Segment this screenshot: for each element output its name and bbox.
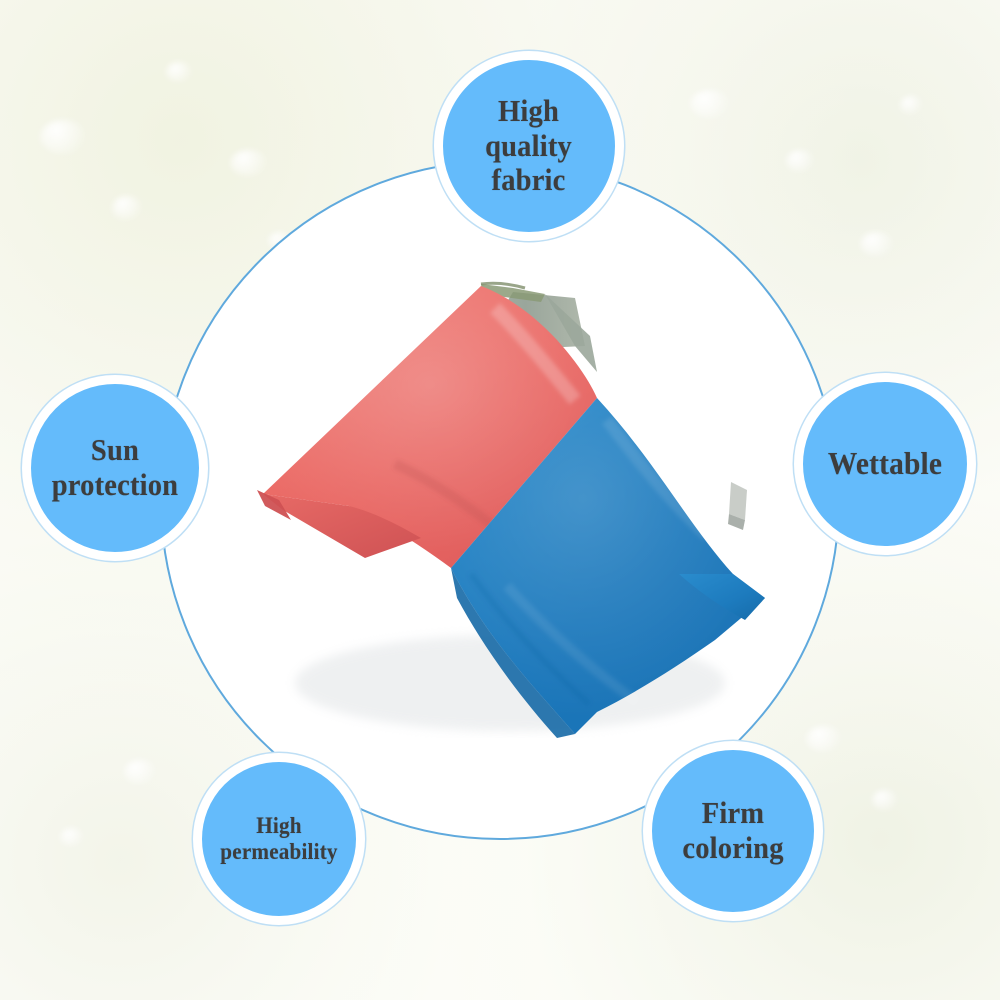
feature-bubble-label: Sun protection [38, 433, 193, 502]
feature-bubble-label: Firm coloring [658, 796, 807, 865]
water-droplet-icon [230, 150, 268, 176]
feature-bubble-label: High permeability [208, 813, 350, 865]
water-droplet-icon [60, 828, 84, 846]
water-droplet-icon [806, 726, 842, 752]
water-droplet-icon [872, 790, 898, 810]
water-droplet-icon [786, 150, 814, 172]
water-droplet-icon [112, 196, 142, 220]
feature-bubble-high-permeability[interactable]: High permeability [193, 753, 365, 925]
product-image-folded-towel [245, 268, 765, 738]
feature-bubble-firm-coloring[interactable]: Firm coloring [643, 741, 823, 921]
water-droplet-icon [860, 232, 894, 256]
feature-bubble-label: Wettable [810, 446, 961, 482]
water-droplet-icon [166, 62, 192, 82]
water-droplet-icon [900, 96, 922, 114]
water-droplet-icon [690, 90, 730, 118]
feature-bubble-sun-protection[interactable]: Sun protection [22, 375, 208, 561]
feature-bubble-high-quality-fabric[interactable]: High quality fabric [434, 51, 624, 241]
water-droplet-icon [40, 120, 86, 154]
feature-bubble-label: High quality fabric [464, 94, 594, 198]
feature-bubble-wettable[interactable]: Wettable [794, 373, 976, 555]
infographic-canvas: High quality fabric Sun protection Wetta… [0, 0, 1000, 1000]
water-droplet-icon [124, 760, 156, 784]
